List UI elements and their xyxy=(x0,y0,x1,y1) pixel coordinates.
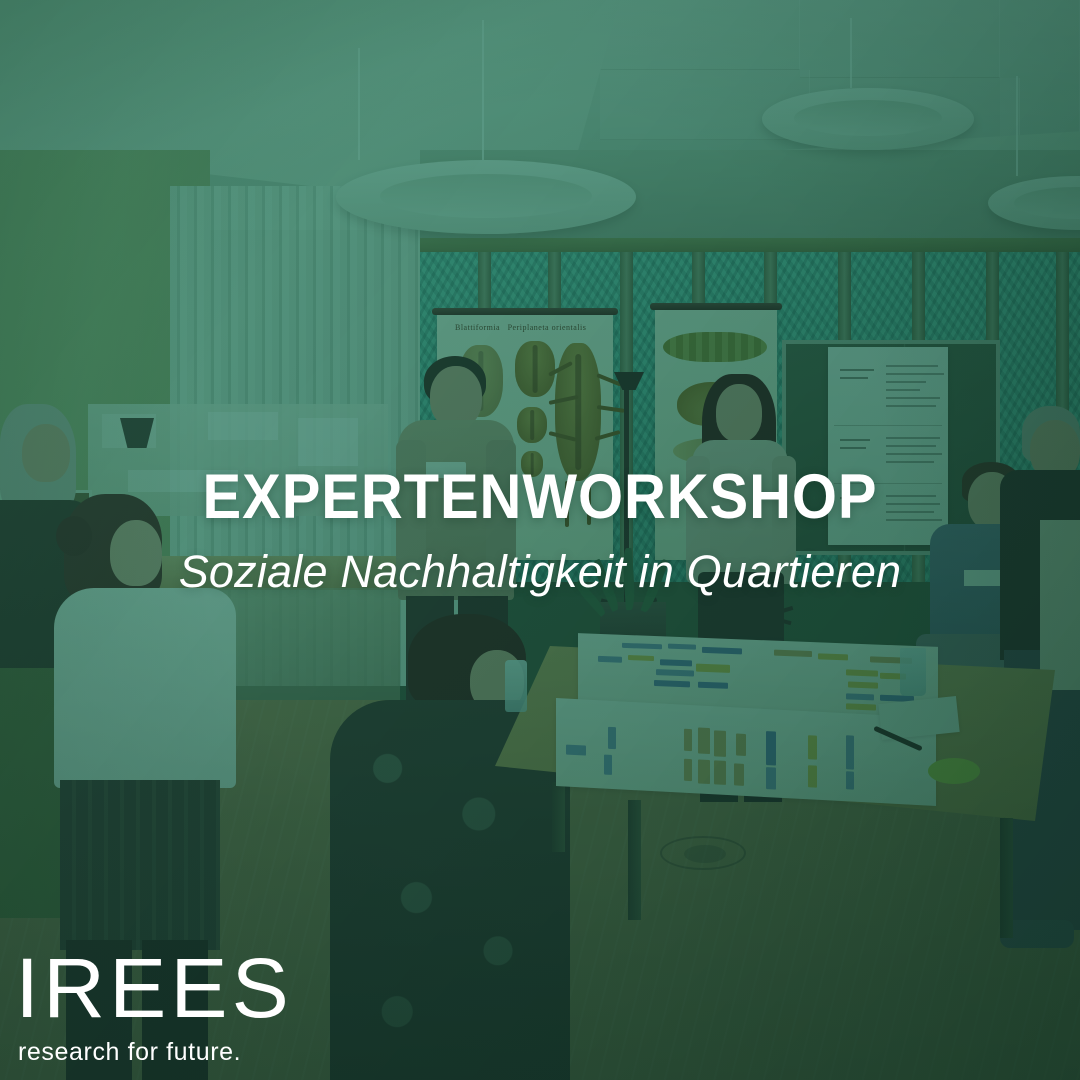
page-subtitle: Soziale Nachhaltigkeit in Quartieren xyxy=(0,547,1080,597)
page-title: EXPERTENWORKSHOP xyxy=(43,466,1037,529)
text-layer: EXPERTENWORKSHOP Soziale Nachhaltigkeit … xyxy=(0,0,1080,1080)
irees-logo: IREES research for future. xyxy=(18,952,290,1067)
event-poster: Blattiformia Periplaneta orientalis xyxy=(0,0,1080,1080)
logo-wordmark: IREES xyxy=(15,952,293,1024)
logo-tagline: research for future. xyxy=(18,1038,290,1067)
